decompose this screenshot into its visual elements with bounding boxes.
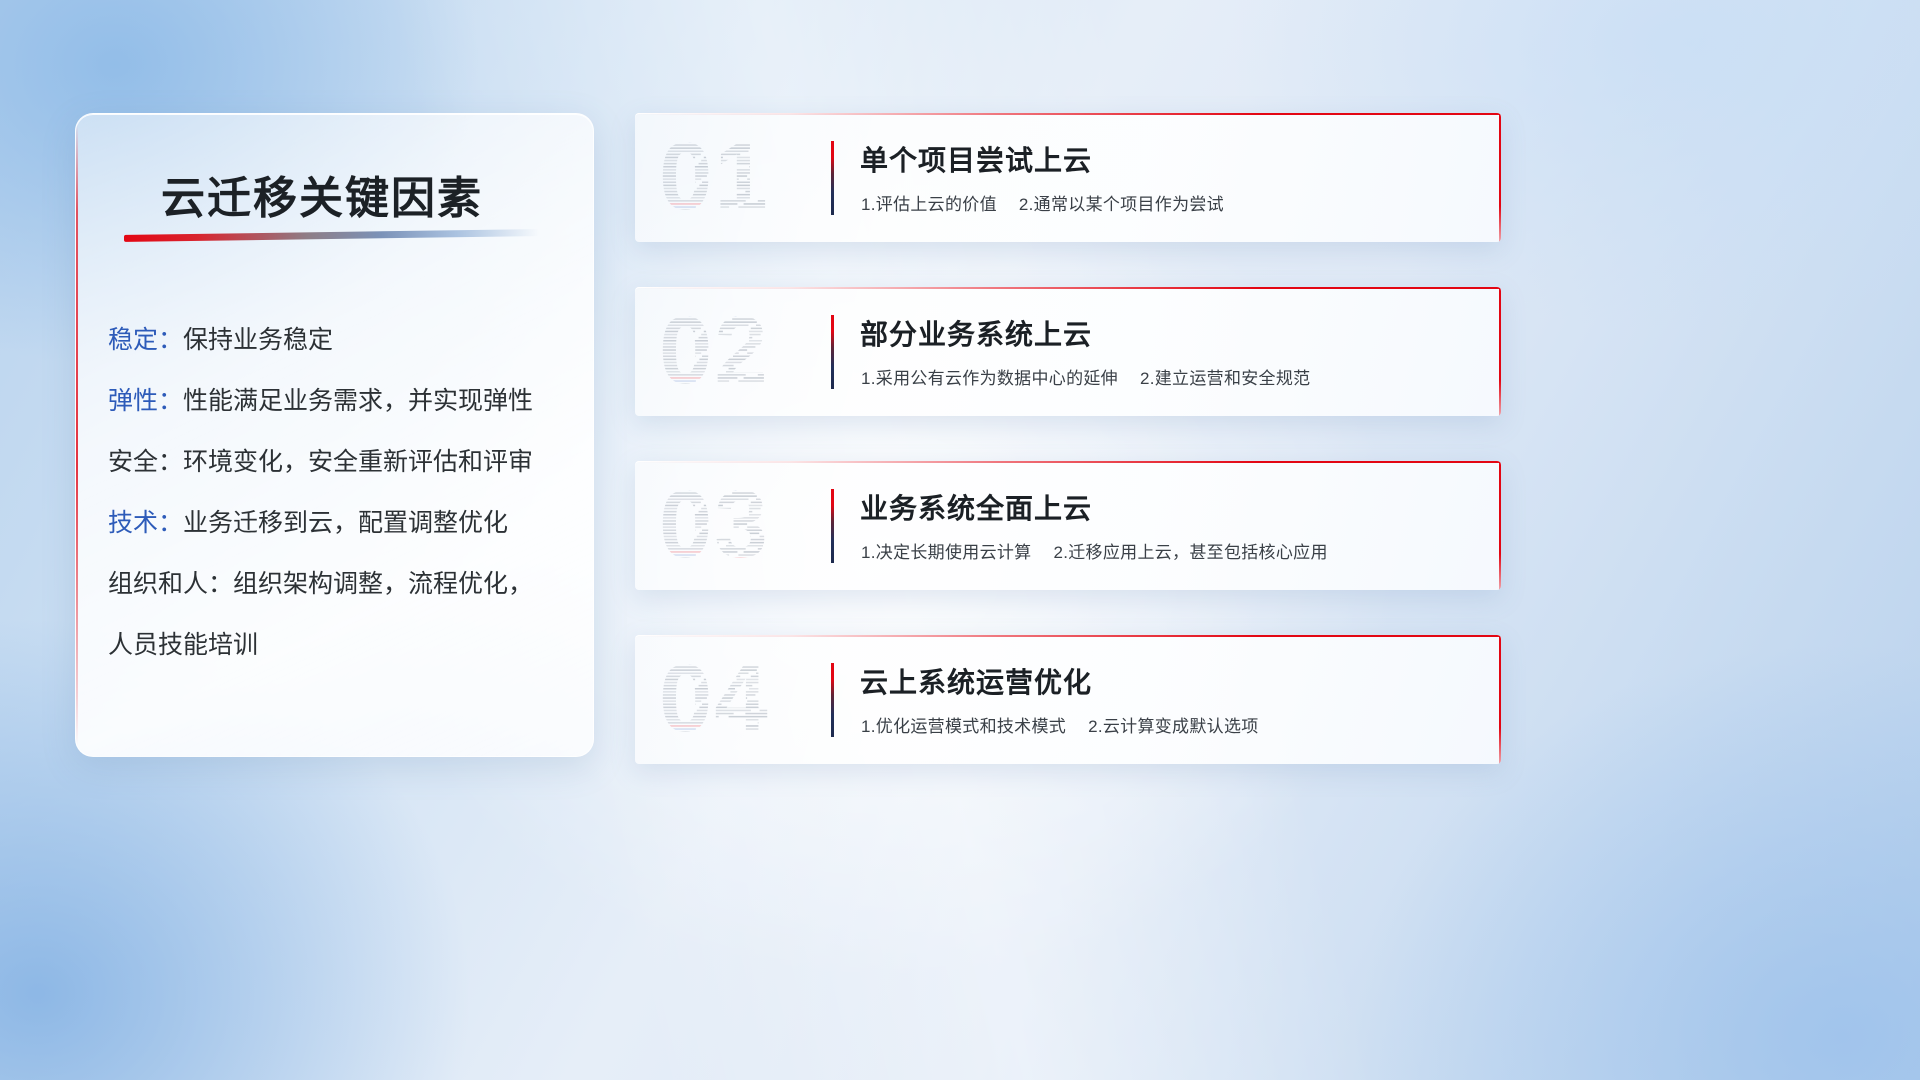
factor-text: 性能满足业务需求，并实现弹性 [183, 387, 533, 415]
card-title: 云上系统运营优化 [860, 661, 1092, 701]
factor-text: 保持业务稳定 [183, 326, 333, 354]
factor-row: 安全：环境变化，安全重新评估和评审 [108, 432, 573, 493]
card-accent-divider [831, 141, 834, 215]
card-point-1: 1.评估上云的价值 [861, 195, 997, 214]
card-point-2: 2.迁移应用上云，甚至包括核心应用 [1053, 543, 1327, 562]
stage-number-watermark: 04 [659, 649, 819, 749]
factor-text: 人员技能培训 [108, 631, 258, 659]
factor-label: 安全： [108, 448, 183, 476]
card-subtitle: 1.优化运营模式和技术模式2.云计算变成默认选项 [861, 712, 1259, 737]
factor-text: 业务迁移到云，配置调整优化 [183, 509, 508, 537]
card-title: 单个项目尝试上云 [860, 139, 1092, 179]
migration-stage-card[interactable]: 01单个项目尝试上云1.评估上云的价值2.通常以某个项目作为尝试 [635, 113, 1501, 242]
card-point-1: 1.采用公有云作为数据中心的延伸 [861, 369, 1118, 388]
migration-stage-card[interactable]: 04云上系统运营优化1.优化运营模式和技术模式2.云计算变成默认选项 [635, 635, 1501, 764]
slide-stage: 云迁移关键因素 稳定：保持业务稳定弹性：性能满足业务需求，并实现弹性安全：环境变… [0, 0, 1920, 1080]
factor-label: 组织和人： [108, 570, 233, 598]
factor-row: 组织和人：组织架构调整，流程优化， [108, 554, 573, 615]
factor-label: 稳定： [108, 326, 183, 354]
card-point-2: 2.通常以某个项目作为尝试 [1019, 195, 1224, 214]
factor-list: 稳定：保持业务稳定弹性：性能满足业务需求，并实现弹性安全：环境变化，安全重新评估… [108, 310, 573, 676]
card-accent-divider [831, 315, 834, 389]
migration-stage-card[interactable]: 02部分业务系统上云1.采用公有云作为数据中心的延伸2.建立运营和安全规范 [635, 287, 1501, 416]
migration-stage-card[interactable]: 03业务系统全面上云1.决定长期使用云计算2.迁移应用上云，甚至包括核心应用 [635, 461, 1501, 590]
stage-number-watermark: 02 [659, 301, 819, 401]
card-subtitle: 1.评估上云的价值2.通常以某个项目作为尝试 [861, 190, 1224, 215]
card-subtitle: 1.决定长期使用云计算2.迁移应用上云，甚至包括核心应用 [861, 538, 1328, 563]
factor-text: 组织架构调整，流程优化， [233, 570, 533, 598]
stage-number-watermark: 01 [659, 127, 819, 227]
factor-label: 弹性： [108, 387, 183, 415]
title-underline-accent [124, 229, 539, 242]
card-point-1: 1.优化运营模式和技术模式 [861, 717, 1066, 736]
factor-row: 稳定：保持业务稳定 [108, 310, 573, 371]
key-factors-panel: 云迁移关键因素 稳定：保持业务稳定弹性：性能满足业务需求，并实现弹性安全：环境变… [75, 113, 594, 757]
factor-label: 技术： [108, 509, 183, 537]
factor-row: 技术：业务迁移到云，配置调整优化 [108, 493, 573, 554]
card-point-2: 2.云计算变成默认选项 [1088, 717, 1258, 736]
card-title: 部分业务系统上云 [860, 313, 1092, 353]
card-accent-divider [831, 663, 834, 737]
card-title: 业务系统全面上云 [860, 487, 1092, 527]
card-point-2: 2.建立运营和安全规范 [1140, 369, 1310, 388]
factor-row: 弹性：性能满足业务需求，并实现弹性 [108, 371, 573, 432]
stage-number-watermark: 03 [659, 475, 819, 575]
card-subtitle: 1.采用公有云作为数据中心的延伸2.建立运营和安全规范 [861, 364, 1310, 389]
factor-row: 人员技能培训 [108, 615, 573, 676]
factor-text: 环境变化，安全重新评估和评审 [183, 448, 533, 476]
card-accent-divider [831, 489, 834, 563]
card-point-1: 1.决定长期使用云计算 [861, 543, 1031, 562]
page-title: 云迁移关键因素 [161, 162, 483, 226]
